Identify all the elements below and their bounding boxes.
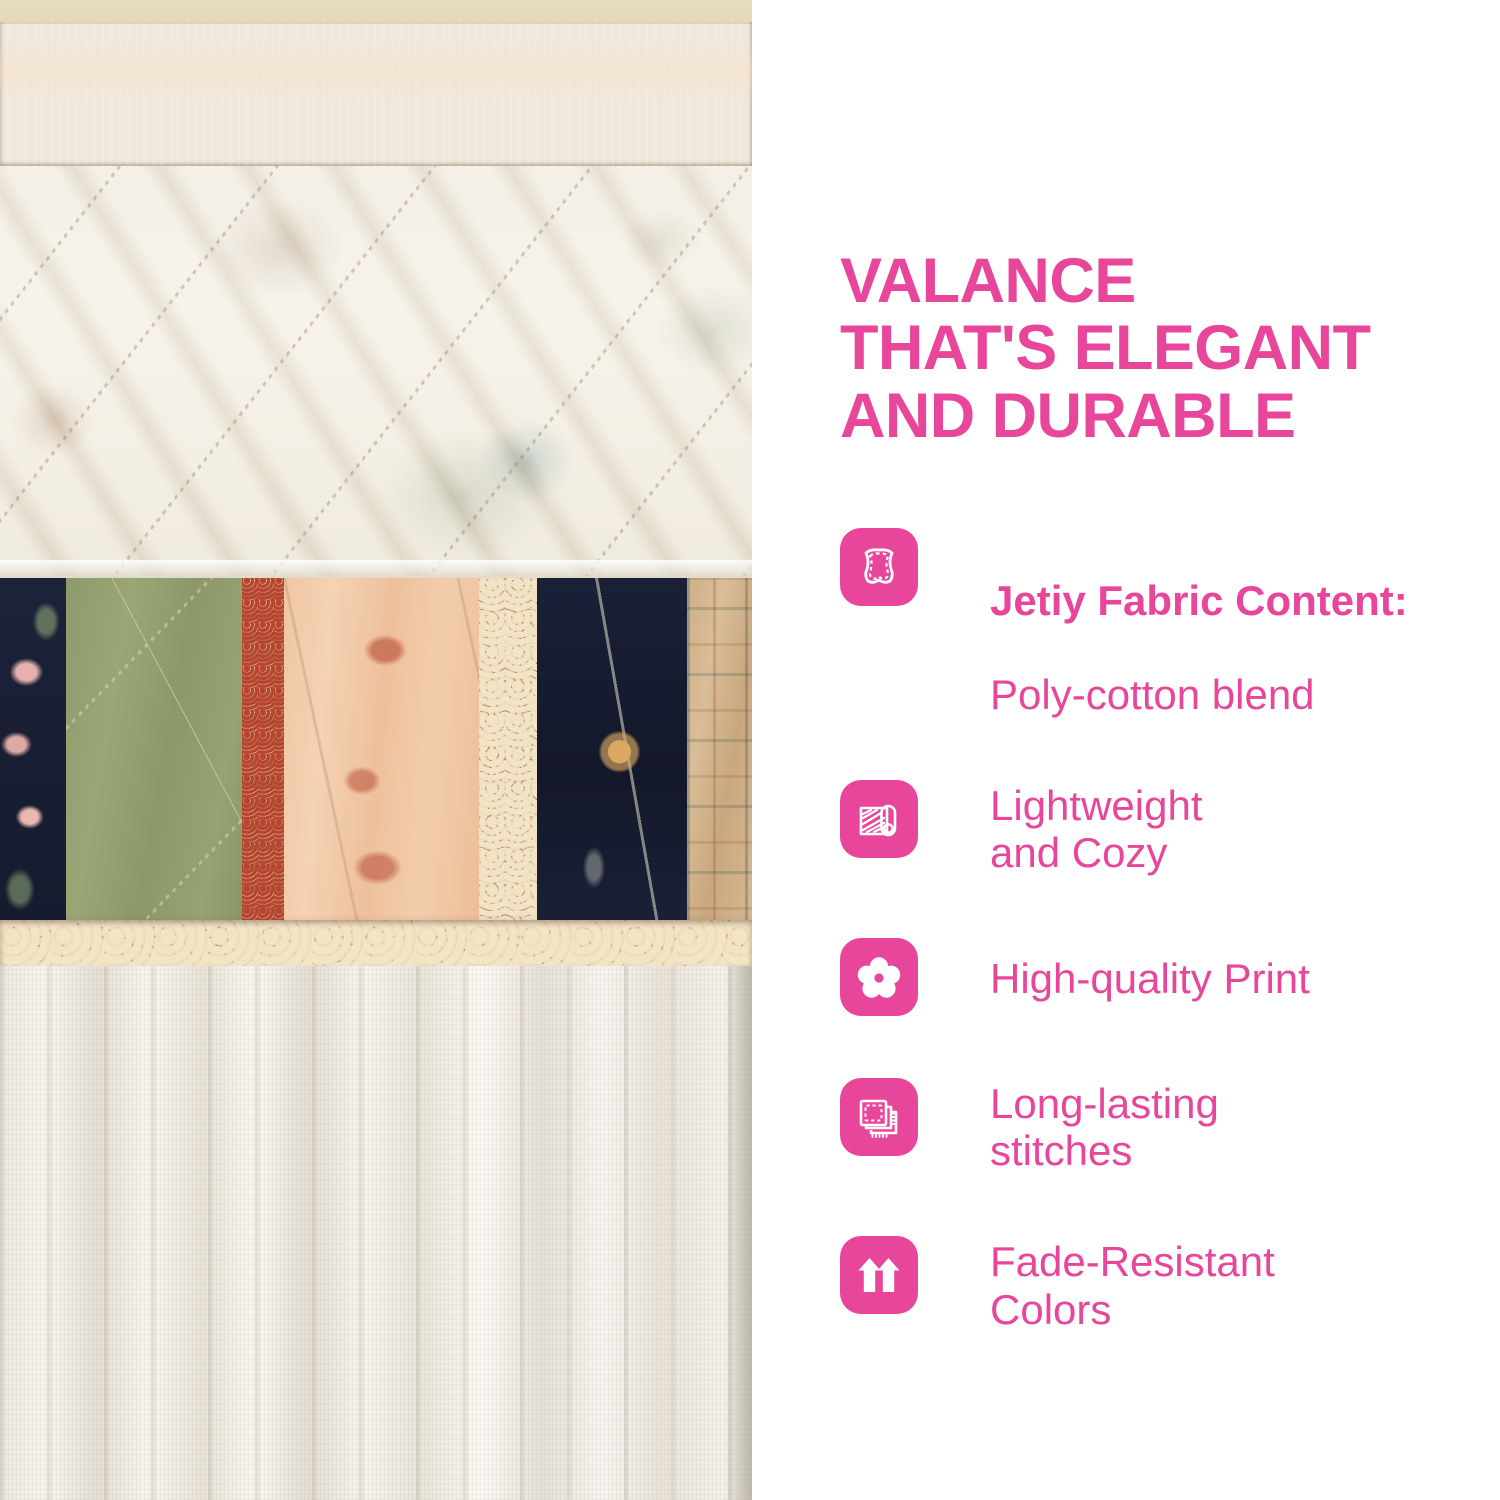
curtain-weave-texture (0, 966, 752, 1500)
wood-highlight (0, 40, 752, 100)
feature-item-fabric-content: Jetiy Fabric Content: Poly-cotton blend (840, 528, 1500, 718)
content-panel: VALANCE THAT'S ELEGANT AND DURABLE Jetiy… (752, 0, 1500, 1500)
feature-lead-fabric-content: Jetiy Fabric Content: (990, 577, 1408, 624)
patch-strip-sage-green (66, 578, 242, 940)
patch-strip-navy-flower (537, 578, 687, 940)
diamond-quilt-stitching (0, 166, 752, 576)
feature-item-print: High-quality Print (840, 938, 1500, 1016)
feature-text-lightweight: Lightweight and Cozy (990, 780, 1202, 876)
flower-icon (840, 938, 918, 1016)
stitched-fabric-icon (840, 1078, 918, 1156)
product-feature-card: VALANCE THAT'S ELEGANT AND DURABLE Jetiy… (0, 0, 1500, 1500)
wall-region (0, 0, 752, 24)
feature-item-stitches: Long-lasting stitches (840, 1078, 1500, 1174)
feature-body-fabric-content: Poly-cotton blend (990, 671, 1315, 718)
feature-text-stitches: Long-lasting stitches (990, 1078, 1219, 1174)
feature-item-lightweight: Lightweight and Cozy (840, 780, 1500, 876)
feature-list: Jetiy Fabric Content: Poly-cotton blend (840, 528, 1500, 1332)
patch-strip-dot-print (242, 578, 284, 940)
feature-text-fabric-content: Jetiy Fabric Content: Poly-cotton blend (990, 528, 1408, 718)
red-floral-binding (0, 920, 752, 968)
fabric-roll-icon (840, 780, 918, 858)
patchwork-band (0, 578, 752, 940)
patch-strip-red-border (479, 578, 537, 940)
patch-strip-navy-rose (0, 578, 66, 940)
page-title: VALANCE THAT'S ELEGANT AND DURABLE (840, 248, 1500, 450)
double-up-arrow-icon (840, 1236, 918, 1314)
curtain-edge-shadow (726, 966, 752, 1500)
patch-strip-tan-plaid (687, 578, 752, 940)
leather-hide-icon (840, 528, 918, 606)
feature-text-print: High-quality Print (990, 938, 1310, 1002)
feature-item-fade-resistant: Fade-Resistant Colors (840, 1236, 1500, 1332)
product-photo (0, 0, 752, 1500)
valance-gather-seam (0, 560, 752, 578)
patch-strip-peach-floral (284, 578, 479, 940)
feature-text-fade-resistant: Fade-Resistant Colors (990, 1236, 1275, 1332)
